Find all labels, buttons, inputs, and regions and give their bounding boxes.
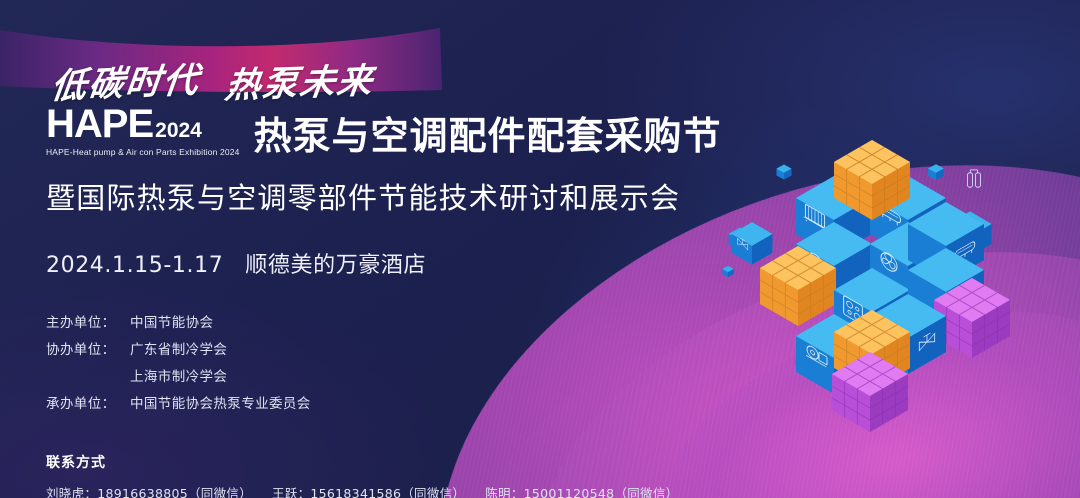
contact-wechat-note: （同微信） — [401, 486, 465, 498]
contact-wechat-note: （同微信） — [188, 486, 252, 498]
organizer-value: 中国节能协会热泵专业委员会 — [130, 392, 311, 412]
contact-name: 刘晓虎： — [46, 486, 97, 498]
contact-name: 王跃： — [272, 486, 310, 498]
organizer-row: 协办单位： 上海市制冷学会 — [46, 365, 746, 385]
contact-phone-line: 刘晓虎：18916638805（同微信） 王跃：15618341586（同微信）… — [46, 483, 746, 498]
calligraphy-phrase-1: 低碳时代 — [49, 51, 204, 108]
contact-heading: 联系方式 — [46, 452, 746, 472]
contact-wechat-note: （同微信） — [614, 486, 678, 498]
organizer-row: 协办单位： 广东省制冷学会 — [46, 338, 746, 358]
calligraphy-phrase-2: 热泵未来 — [223, 52, 378, 108]
page-title: 热泵与空调配件配套采购节 — [254, 117, 722, 159]
organizer-label: 承办单位： — [46, 392, 130, 412]
hape-wordmark: HAPE2024 — [46, 104, 240, 144]
poster-canvas: 低碳时代 热泵未来 — [0, 0, 1080, 498]
event-venue: 顺德美的万豪酒店 — [245, 247, 426, 279]
organizer-value: 上海市制冷学会 — [130, 365, 227, 385]
hape-logo-lockup: HAPE2024 HAPE-Heat pump & Air con Parts … — [46, 104, 240, 159]
contact-phone: 15001120548 — [524, 486, 615, 498]
hape-brand-year: 2024 — [155, 120, 202, 141]
headline-row: HAPE2024 HAPE-Heat pump & Air con Parts … — [46, 104, 746, 159]
calligraphy-ribbon: 低碳时代 热泵未来 — [0, 24, 470, 96]
contact-phone: 18916638805 — [97, 486, 188, 498]
hape-english-subtitle: HAPE-Heat pump & Air con Parts Exhibitio… — [46, 147, 240, 157]
organizer-value: 中国节能协会 — [130, 311, 213, 331]
organizer-label: 主办单位： — [46, 311, 130, 331]
calligraphy-text: 低碳时代 热泵未来 — [52, 52, 412, 108]
event-date: 2024.1.15-1.17 — [46, 253, 223, 278]
isometric-parts-cube — [722, 128, 1022, 403]
page-subtitle: 暨国际热泵与空调零部件节能技术研讨和展示会 — [46, 175, 746, 217]
icon-refrigerant-cylinder-floating — [968, 170, 981, 187]
organizer-label: 协办单位： — [46, 338, 130, 358]
organizer-value: 广东省制冷学会 — [130, 338, 227, 358]
contact-phone: 15618341586 — [310, 486, 401, 498]
date-venue-row: 2024.1.15-1.17 顺德美的万豪酒店 — [46, 247, 746, 279]
contact-person: 王跃：15618341586（同微信） — [272, 483, 465, 498]
organizer-list: 主办单位： 中国节能协会 协办单位： 广东省制冷学会 协办单位： 上海市制冷学会… — [46, 311, 746, 412]
poster-content: HAPE2024 HAPE-Heat pump & Air con Parts … — [46, 104, 746, 498]
contact-person: 陈明：15001120548（同微信） — [485, 483, 678, 498]
contact-person: 刘晓虎：18916638805（同微信） — [46, 483, 252, 498]
hape-brand-name: HAPE — [46, 104, 153, 144]
organizer-row: 主办单位： 中国节能协会 — [46, 311, 746, 331]
contact-name: 陈明： — [485, 486, 523, 498]
organizer-row: 承办单位： 中国节能协会热泵专业委员会 — [46, 392, 746, 412]
